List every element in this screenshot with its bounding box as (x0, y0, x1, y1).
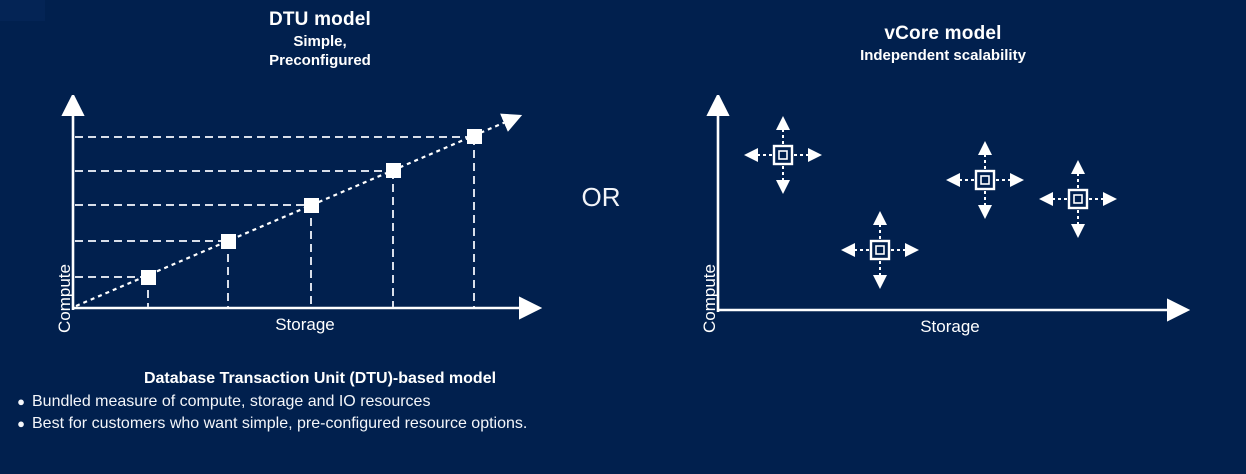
vcore-chart-svg (640, 95, 1246, 325)
dtu-point-4 (386, 163, 401, 178)
dtu-title: DTU model (0, 8, 640, 32)
dtu-subtitle-line2: Preconfigured (0, 51, 640, 70)
dtu-bullet-list: ● Bundled measure of compute, storage an… (0, 391, 640, 435)
vcore-x-axis-label: Storage (840, 317, 1060, 337)
dtu-bullet-item: ● Best for customers who want simple, pr… (10, 413, 640, 435)
dtu-panel: DTU model Simple, Preconfigured (0, 0, 640, 474)
dtu-caption-heading: Database Transaction Unit (DTU)-based mo… (0, 368, 640, 389)
vcore-point-1 (756, 128, 810, 182)
or-divider-label: OR (556, 182, 646, 213)
bullet-dot-icon: ● (10, 391, 32, 413)
dtu-trend-line (76, 121, 508, 306)
vcore-title: vCore model (640, 22, 1246, 46)
dtu-chart: Compute Storage (0, 95, 640, 325)
dtu-point-5 (467, 129, 482, 144)
bullet-dot-icon: ● (10, 413, 32, 435)
dtu-title-block: DTU model Simple, Preconfigured (0, 8, 640, 70)
dtu-bullet-text: Bundled measure of compute, storage and … (32, 391, 430, 413)
dtu-point-1 (141, 270, 156, 285)
dtu-x-axis-label: Storage (195, 315, 415, 335)
dtu-y-axis-label: Compute (55, 264, 75, 333)
vcore-title-block: vCore model Independent scalability (640, 22, 1246, 65)
dtu-point-2 (221, 234, 236, 249)
vcore-subtitle: Independent scalability (640, 46, 1246, 65)
vcore-panel: vCore model Independent scalability (640, 0, 1246, 474)
vcore-point-2 (853, 223, 907, 277)
dtu-bullet-item: ● Bundled measure of compute, storage an… (10, 391, 640, 413)
vcore-point-3 (958, 153, 1012, 207)
dtu-horizontal-guides (75, 137, 474, 277)
dtu-subtitle-line1: Simple, (0, 32, 640, 51)
vcore-y-axis-label: Compute (700, 264, 720, 333)
dtu-chart-svg (0, 95, 640, 325)
dtu-point-3 (304, 198, 319, 213)
dtu-vertical-guides (148, 137, 474, 307)
vcore-chart: Compute Storage (640, 95, 1246, 325)
dtu-bullet-text: Best for customers who want simple, pre-… (32, 413, 527, 435)
vcore-point-4 (1051, 172, 1105, 226)
dtu-caption: Database Transaction Unit (DTU)-based mo… (0, 368, 640, 435)
